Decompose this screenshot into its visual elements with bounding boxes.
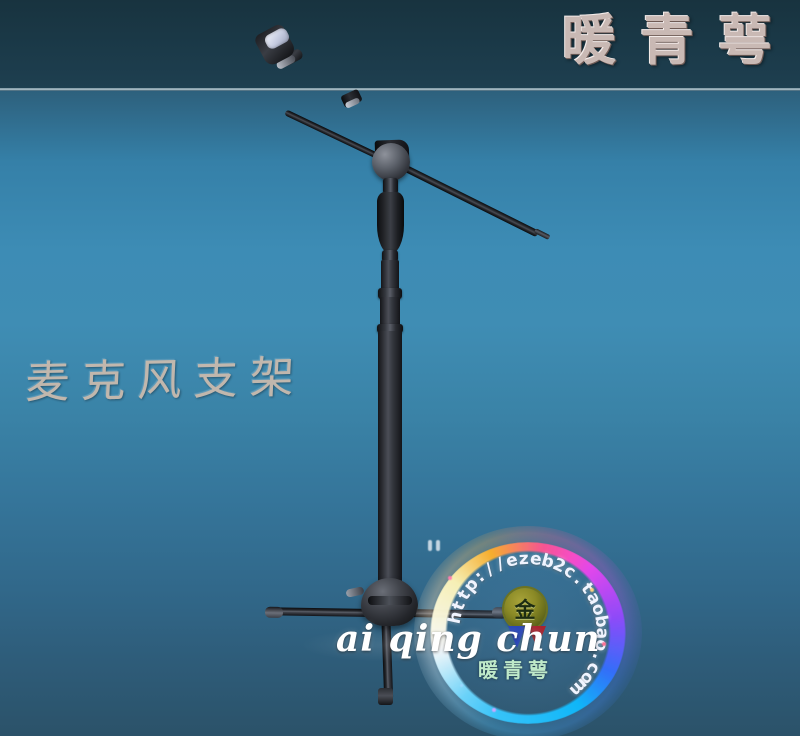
- pole-middle-section: [380, 297, 400, 327]
- product-photo-canvas: 暖 青 萼 麦克风支架: [0, 0, 800, 736]
- ball-joint: [372, 143, 410, 181]
- boom-arm: [388, 157, 539, 237]
- sparkle-1: [448, 576, 452, 580]
- boom-arm-tip: [534, 228, 551, 240]
- rubber-grip: [377, 192, 404, 254]
- sparkle-3: [602, 642, 606, 646]
- tripod-foot-front: [378, 688, 393, 705]
- tripod-leg-left: [272, 607, 370, 617]
- watermark-script-signature: ai qing chun: [336, 618, 601, 660]
- sparkle-5: [492, 708, 496, 712]
- tripod-hub-collar: [368, 596, 412, 605]
- watermark-url-char: e: [504, 550, 520, 572]
- sparkle-2: [590, 588, 594, 592]
- pole-lower-section: [378, 331, 402, 599]
- sparkle-4: [460, 684, 463, 687]
- tripod-leg-left-tip: [265, 607, 283, 618]
- watermark-url-char: z: [518, 549, 529, 570]
